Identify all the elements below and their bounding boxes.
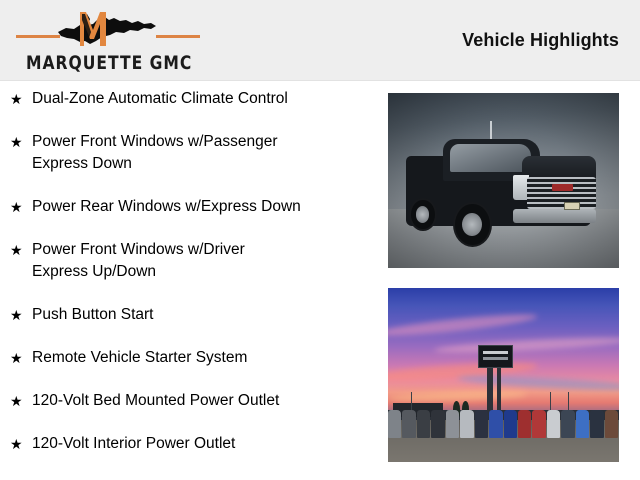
parked-vehicle	[475, 410, 488, 438]
list-item-label: Power Front Windows w/Driver Express Up/…	[32, 239, 380, 283]
vehicle-highlights-page: MARQUETTE GMC Vehicle Highlights ★ Dual-…	[0, 0, 640, 480]
parked-vehicle	[489, 410, 502, 438]
parked-vehicle	[576, 410, 589, 438]
parked-vehicle	[431, 410, 444, 438]
dealer-wordmark: MARQUETTE GMC	[26, 52, 190, 74]
truck-rear-wheel	[409, 198, 437, 231]
logo-rule-right	[156, 35, 200, 38]
gmc-badge-icon	[552, 184, 573, 191]
star-bullet-icon: ★	[10, 304, 32, 326]
list-item-label: Remote Vehicle Starter System	[32, 347, 380, 369]
wheel-hub	[462, 213, 482, 236]
star-bullet-icon: ★	[10, 390, 32, 412]
star-bullet-icon: ★	[10, 433, 32, 455]
truck-bumper	[513, 209, 596, 223]
list-item: ★ Push Button Start	[0, 304, 380, 326]
sign-text-line	[483, 351, 508, 354]
list-item-label: 120-Volt Bed Mounted Power Outlet	[32, 390, 380, 412]
list-item-label: Dual-Zone Automatic Climate Control	[32, 88, 380, 110]
parked-vehicle	[446, 410, 459, 438]
star-bullet-icon: ★	[10, 347, 32, 369]
list-item: ★ Power Rear Windows w/Express Down	[0, 196, 380, 218]
list-item-label: Power Front Windows w/Passenger Express …	[32, 131, 380, 175]
list-item: ★ 120-Volt Bed Mounted Power Outlet	[0, 390, 380, 412]
list-item-label: 120-Volt Interior Power Outlet	[32, 433, 380, 455]
list-item-label: Push Button Start	[32, 304, 380, 326]
sign-text-line	[483, 357, 508, 360]
license-plate	[564, 202, 580, 211]
parked-vehicle	[388, 410, 401, 438]
list-item: ★ Dual-Zone Automatic Climate Control	[0, 88, 380, 110]
parked-vehicle	[605, 410, 618, 438]
vehicle-inventory-row	[388, 410, 619, 438]
truck-windshield	[450, 144, 531, 172]
vehicle-highlights-list: ★ Dual-Zone Automatic Climate Control ★ …	[0, 88, 380, 476]
cloud-streak	[434, 335, 619, 356]
parked-vehicle	[518, 410, 531, 438]
parked-vehicle	[532, 410, 545, 438]
star-bullet-icon: ★	[10, 239, 32, 261]
parked-vehicle	[561, 410, 574, 438]
parked-vehicle	[417, 410, 430, 438]
dealer-sign-board	[478, 345, 513, 368]
dealership-photo[interactable]	[388, 288, 619, 462]
page-title: Vehicle Highlights	[462, 30, 619, 51]
list-item: ★ Power Front Windows w/Driver Express U…	[0, 239, 380, 283]
star-bullet-icon: ★	[10, 88, 32, 110]
upper-peninsula-silhouette-with-m-icon	[52, 8, 162, 50]
truck-front-wheel	[453, 202, 492, 248]
dealer-logo[interactable]: MARQUETTE GMC	[8, 4, 208, 78]
parked-vehicle	[547, 410, 560, 438]
truck-grille	[527, 177, 596, 209]
list-item: ★ Power Front Windows w/Passenger Expres…	[0, 131, 380, 175]
cloud-streak	[388, 311, 538, 340]
vehicle-photo[interactable]	[388, 93, 619, 268]
page-header: MARQUETTE GMC Vehicle Highlights	[0, 0, 640, 81]
parked-vehicle	[402, 410, 415, 438]
parked-vehicle	[590, 410, 603, 438]
list-item: ★ 120-Volt Interior Power Outlet	[0, 433, 380, 455]
star-bullet-icon: ★	[10, 196, 32, 218]
parked-vehicle	[460, 410, 473, 438]
list-item: ★ Remote Vehicle Starter System	[0, 347, 380, 369]
logo-mark	[8, 4, 208, 52]
star-bullet-icon: ★	[10, 131, 32, 153]
wheel-hub	[416, 206, 429, 222]
list-item-label: Power Rear Windows w/Express Down	[32, 196, 380, 218]
parked-vehicle	[504, 410, 517, 438]
